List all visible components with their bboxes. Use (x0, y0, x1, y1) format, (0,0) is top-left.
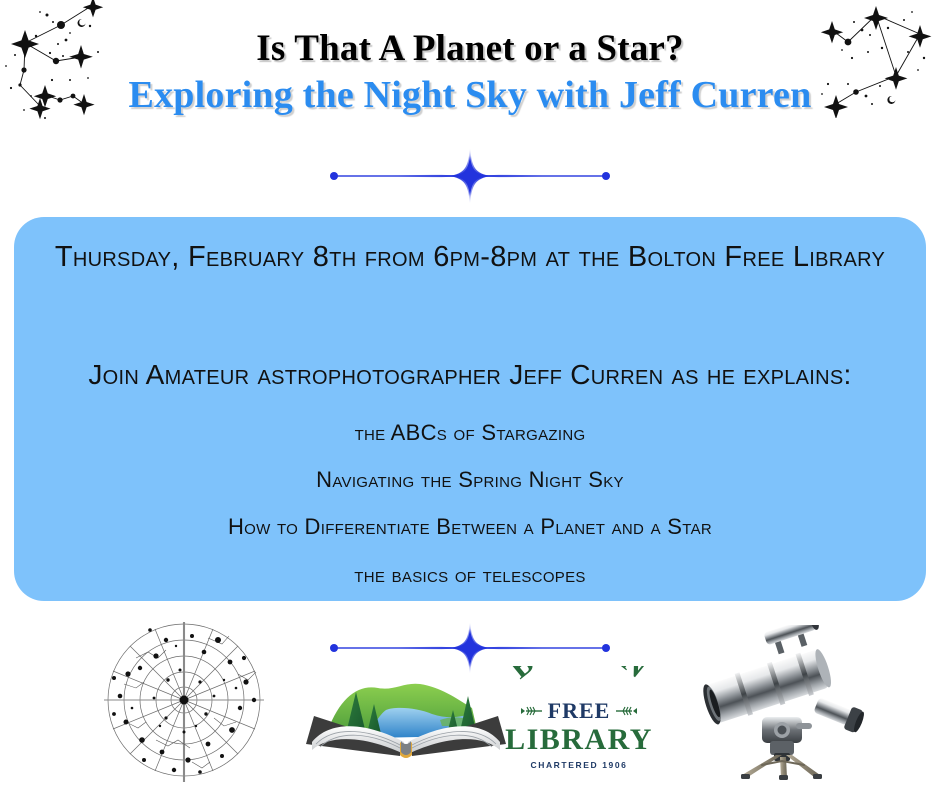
page-subtitle: Exploring the Night Sky with Jeff Curren (0, 73, 940, 118)
page-title: Is That A Planet or a Star? (0, 28, 940, 69)
logo-bolton-arched-text: BOLTON (500, 666, 658, 700)
topic-list-item: Navigating the Spring Night Sky (14, 467, 926, 493)
leaf-ornament-right-icon (615, 706, 637, 716)
book-landscape-logo-icon (300, 658, 512, 770)
poster-canvas: Is That A Planet or a Star? Exploring th… (0, 0, 940, 788)
svg-text:BOLTON: BOLTON (504, 666, 655, 685)
star-divider-top-icon (320, 148, 620, 204)
logo-chartered-text: CHARTERED 1906 (500, 760, 658, 770)
speaker-intro-heading: Join Amateur astrophotographer Jeff Curr… (14, 359, 926, 391)
bolton-free-library-logo: BOLTON FREE LIBRARY (500, 666, 658, 772)
logo-free-text: FREE (548, 698, 611, 724)
logo-free-row: FREE (500, 698, 658, 724)
topic-list-item: the basics of telescopes (14, 562, 926, 588)
logo-library-text: LIBRARY (500, 725, 658, 755)
topic-list-item: How to Differentiate Between a Planet an… (14, 514, 926, 540)
poster-header: Is That A Planet or a Star? Exploring th… (0, 28, 940, 118)
event-datetime-location: Thursday, February 8th from 6pm-8pm at t… (14, 241, 926, 274)
leaf-ornament-left-icon (521, 706, 543, 716)
event-info-panel: Thursday, February 8th from 6pm-8pm at t… (14, 217, 926, 601)
topic-list-item: the ABCs of Stargazing (14, 420, 926, 446)
telescope-icon (700, 625, 865, 780)
logo-bolton-text: BOLTON (504, 666, 655, 685)
star-chart-icon (96, 622, 276, 782)
